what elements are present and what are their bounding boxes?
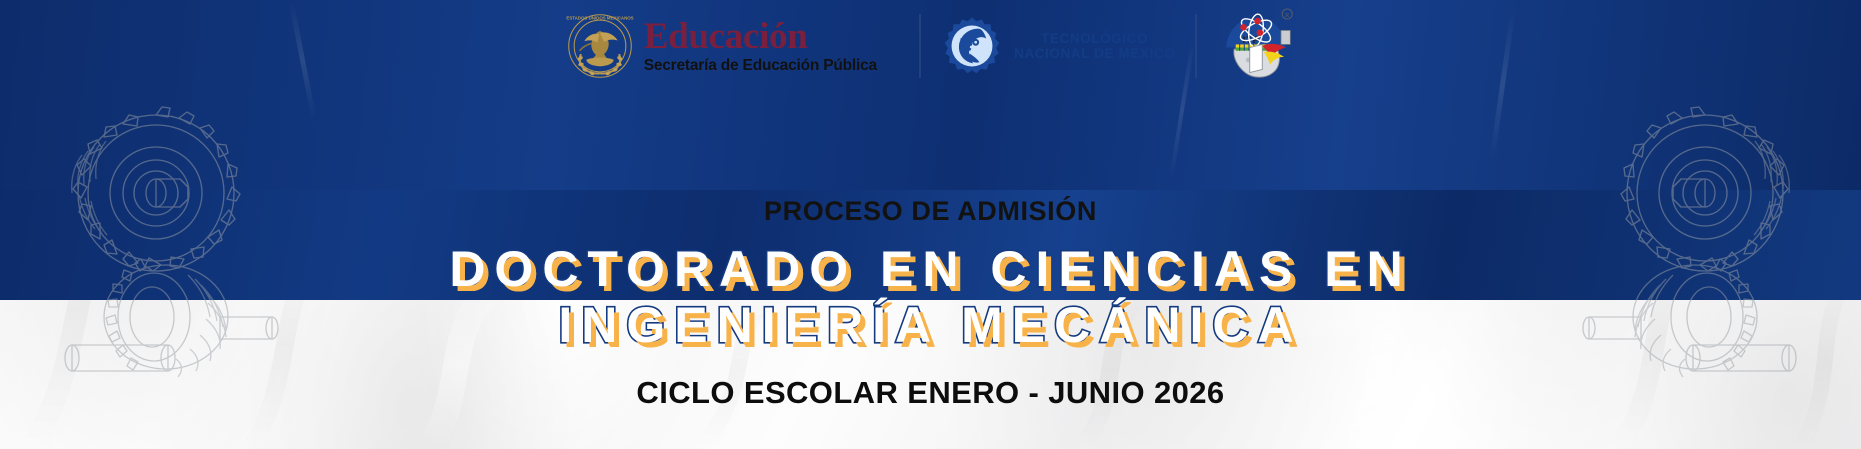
svg-text:R: R [1285, 12, 1290, 19]
logo-divider-2 [1195, 14, 1197, 78]
sep-subtitle: Secretaría de Educación Pública [644, 58, 877, 74]
itp-logo-lockup: ITP R [1217, 7, 1295, 85]
itp-pachuca-crest-icon: ITP R [1217, 7, 1295, 85]
sep-wordmark: Educación Secretaría de Educación Públic… [644, 18, 877, 74]
gear-assembly-watermark-left [48, 95, 283, 395]
mexico-coat-of-arms-icon: ESTADOS UNIDOS MEXICANOS [566, 12, 634, 80]
tecnm-logo-lockup: TECNOLÓGICO NACIONAL DE MEXICO [941, 15, 1175, 77]
tecnm-wordmark: TECNOLÓGICO NACIONAL DE MEXICO [1014, 31, 1175, 61]
admission-banner: ESTADOS UNIDOS MEXICANOS [0, 0, 1861, 449]
institution-logo-strip: ESTADOS UNIDOS MEXICANOS [0, 0, 1861, 92]
sep-title: Educación [644, 18, 877, 55]
logo-divider-1 [919, 14, 921, 78]
tecnm-gear-eagle-icon [941, 15, 1003, 77]
sep-logo-lockup: ESTADOS UNIDOS MEXICANOS [566, 12, 899, 80]
svg-text:ESTADOS UNIDOS MEXICANOS: ESTADOS UNIDOS MEXICANOS [566, 15, 633, 20]
gear-assembly-watermark-right [1578, 95, 1813, 395]
tecnm-line-2: NACIONAL DE MEXICO [1014, 46, 1175, 61]
tecnm-line-1: TECNOLÓGICO [1041, 31, 1148, 46]
